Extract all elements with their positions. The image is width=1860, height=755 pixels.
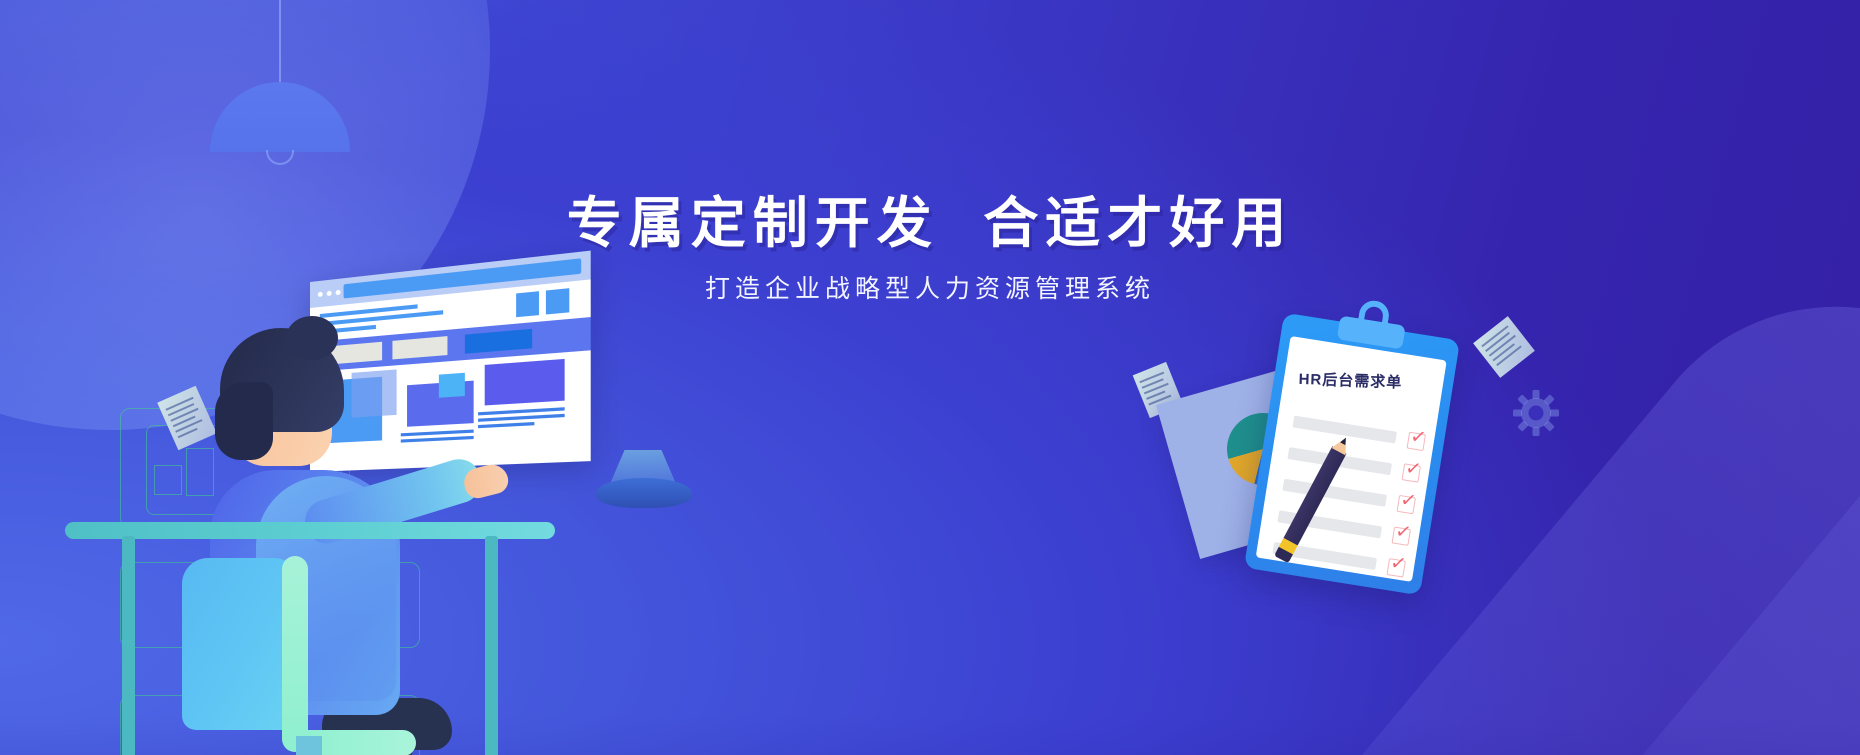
clipboard-title: HR后台需求单 <box>1298 368 1433 394</box>
screen-card-chip <box>439 373 465 398</box>
check-icon: ✓ <box>1394 525 1413 540</box>
screen-card-indigo <box>485 359 565 406</box>
check-icon: ✓ <box>1404 462 1423 477</box>
check-icon: ✓ <box>1399 493 1418 508</box>
lamp-cord <box>279 0 281 84</box>
check-icon: ✓ <box>1389 556 1408 571</box>
lamp-bulb <box>266 150 294 165</box>
hr-clipboard-illustration: HR后台需求单 ✓ ✓ ✓ ✓ ✓ <box>1175 325 1505 625</box>
screen-content-area <box>310 350 591 472</box>
desk-surface <box>65 522 555 539</box>
chair-stem <box>296 736 322 755</box>
page-title: 专属定制开发 合适才好用 <box>0 196 1860 251</box>
person-hair-back <box>215 382 273 460</box>
screen-text-line <box>401 436 474 443</box>
chair-back-edge <box>282 556 308 752</box>
desk-leg-right <box>485 536 498 755</box>
monitor <box>310 282 570 472</box>
check-icon: ✓ <box>1409 430 1428 445</box>
clipboard-ring <box>1357 299 1391 333</box>
screen-text-line <box>478 422 534 428</box>
gear-icon-right <box>1513 390 1559 436</box>
clipboard: HR后台需求单 ✓ ✓ ✓ ✓ ✓ <box>1244 313 1460 596</box>
page-subtitle: 打造企业战略型人力资源管理系统 <box>0 277 1860 302</box>
screen-card-overlay <box>352 369 397 417</box>
screen-text-line <box>478 414 565 422</box>
developer-illustration <box>60 300 620 755</box>
desk-leg-left <box>122 536 135 755</box>
hero-banner: 专属定制开发 合适才好用 打造企业战略型人力资源管理系统 <box>0 0 1860 755</box>
headline-block: 专属定制开发 合适才好用 打造企业战略型人力资源管理系统 <box>0 196 1860 302</box>
person-hair-bun <box>286 316 338 360</box>
lamp-dome <box>210 82 350 152</box>
checklist-row-line <box>1282 479 1387 507</box>
screen-text-line <box>401 430 474 437</box>
monitor-base <box>596 478 692 508</box>
